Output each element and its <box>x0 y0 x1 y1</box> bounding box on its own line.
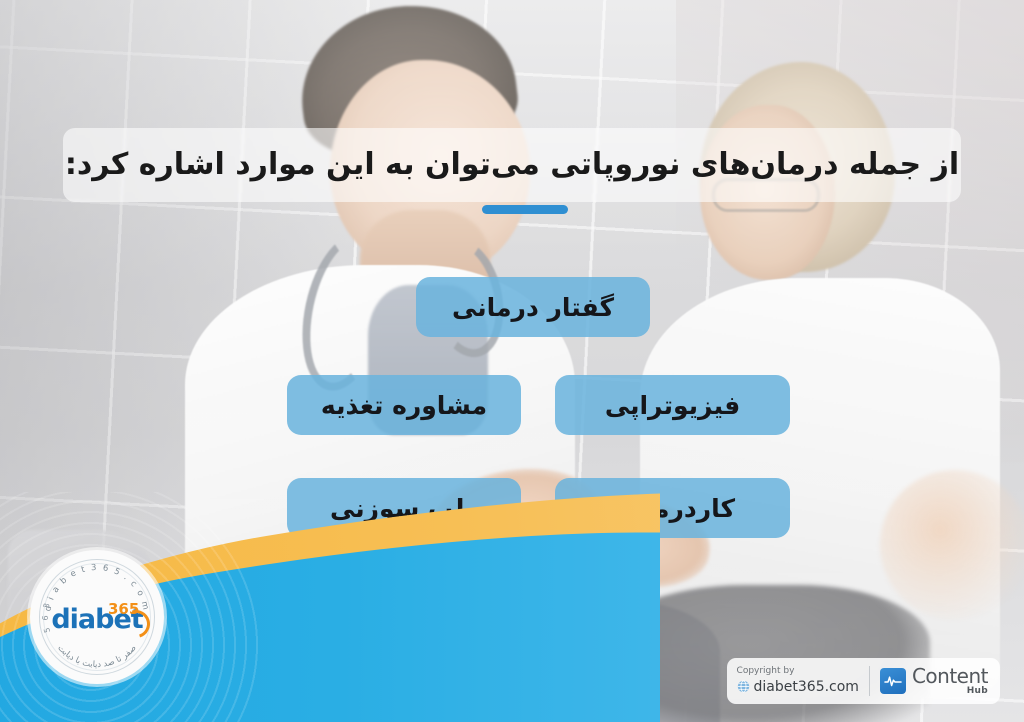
treatment-label: فیزیوتراپی <box>605 391 740 420</box>
treatment-pill-nutrition-counseling[interactable]: مشاوره تغذیه <box>287 375 521 435</box>
content-hub-brand: Content Hub <box>880 666 988 696</box>
copyright-label: Copyright by <box>737 666 859 676</box>
content-hub-badge[interactable]: Content Hub Copyright by diabet365.com <box>727 658 1000 704</box>
badge-divider <box>869 666 870 696</box>
copyright-domain: diabet365.com <box>754 679 859 695</box>
treatment-pill-acupuncture[interactable]: طب سوزنی <box>287 478 521 538</box>
treatment-label: مشاوره تغذیه <box>321 391 487 420</box>
content-hub-wordmark: Content Hub <box>912 666 988 696</box>
treatment-label: طب سوزنی <box>330 494 478 523</box>
treatment-pill-speech-therapy[interactable]: گفتار درمانی <box>416 277 650 337</box>
copyright-block: Copyright by diabet365.com <box>737 666 859 697</box>
treatment-pill-occupational-therapy[interactable]: کاردرمانی <box>555 478 790 538</box>
headline-text: از جمله درمان‌های نوروپاتی می‌توان به ای… <box>65 148 959 183</box>
logo-365-superscript: 365 <box>108 600 139 618</box>
pulse-icon <box>880 668 906 694</box>
content-hub-name: Content <box>912 666 988 686</box>
content-hub-suffix: Hub <box>967 687 988 696</box>
treatment-label: گفتار درمانی <box>452 293 614 322</box>
treatment-pill-physiotherapy[interactable]: فیزیوتراپی <box>555 375 790 435</box>
copyright-domain-row[interactable]: diabet365.com <box>737 678 859 697</box>
treatment-label: کاردرمانی <box>610 494 735 523</box>
headline-banner: از جمله درمان‌های نوروپاتی می‌توان به ای… <box>63 128 961 202</box>
diabet365-logo[interactable]: d i a b e t 3 6 5 . c o m 3 6 5 صفر تا ص… <box>30 550 164 684</box>
infographic-canvas: از جمله درمان‌های نوروپاتی می‌توان به ای… <box>0 0 1024 722</box>
globe-icon <box>737 678 750 697</box>
headline-accent-bar <box>482 205 568 214</box>
